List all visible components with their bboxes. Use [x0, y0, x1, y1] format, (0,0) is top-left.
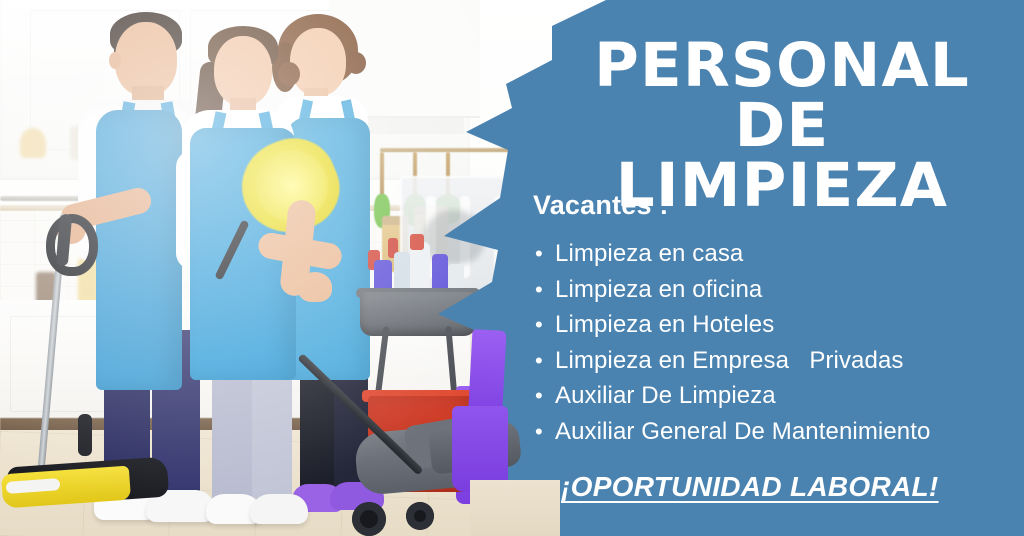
- person-leg: [252, 366, 292, 502]
- vacancies-list: Limpieza en casa Limpieza en oficina Lim…: [533, 236, 1013, 450]
- person-ear: [109, 52, 121, 69]
- person-hair-curl: [278, 62, 300, 86]
- person-head: [214, 36, 272, 106]
- person-shoe: [250, 494, 308, 524]
- cleaning-staff-photo: [0, 0, 620, 536]
- list-item: Limpieza en Empresa Privadas: [533, 343, 1013, 379]
- list-item: Auxiliar General De Mantenimiento: [533, 414, 1013, 450]
- person-hand: [298, 272, 332, 302]
- page-title-line-1: PERSONAL DE: [594, 30, 970, 161]
- person-head: [115, 22, 177, 96]
- cart-wheel: [352, 502, 386, 536]
- person-head: [290, 28, 346, 96]
- list-item: Limpieza en casa: [533, 236, 1013, 272]
- list-item: Limpieza en Hoteles: [533, 307, 1013, 343]
- floor-sweeper-grip-loop: [46, 214, 98, 276]
- floor-sweeper-shaft-joint: [78, 414, 92, 456]
- opportunity-callout: ¡OPORTUNIDAD LABORAL!: [561, 471, 939, 503]
- vacancies-label: Vacantes :: [533, 190, 669, 221]
- list-item: Limpieza en oficina: [533, 272, 1013, 308]
- person-apron: [96, 110, 182, 390]
- page-title: PERSONAL DE LIMPIEZA: [552, 36, 1012, 215]
- person-hair-curl: [346, 52, 366, 74]
- person-leg: [212, 366, 252, 502]
- list-item: Auxiliar De Limpieza: [533, 378, 1013, 414]
- shelf-item: [20, 128, 46, 158]
- job-ad-poster: PERSONAL DE LIMPIEZA Vacantes : Limpieza…: [0, 0, 1024, 536]
- supply-caddy: [360, 292, 476, 336]
- cart-wheel: [406, 502, 434, 530]
- spray-bottle-trigger: [410, 234, 424, 250]
- floor-foreground: [470, 480, 560, 536]
